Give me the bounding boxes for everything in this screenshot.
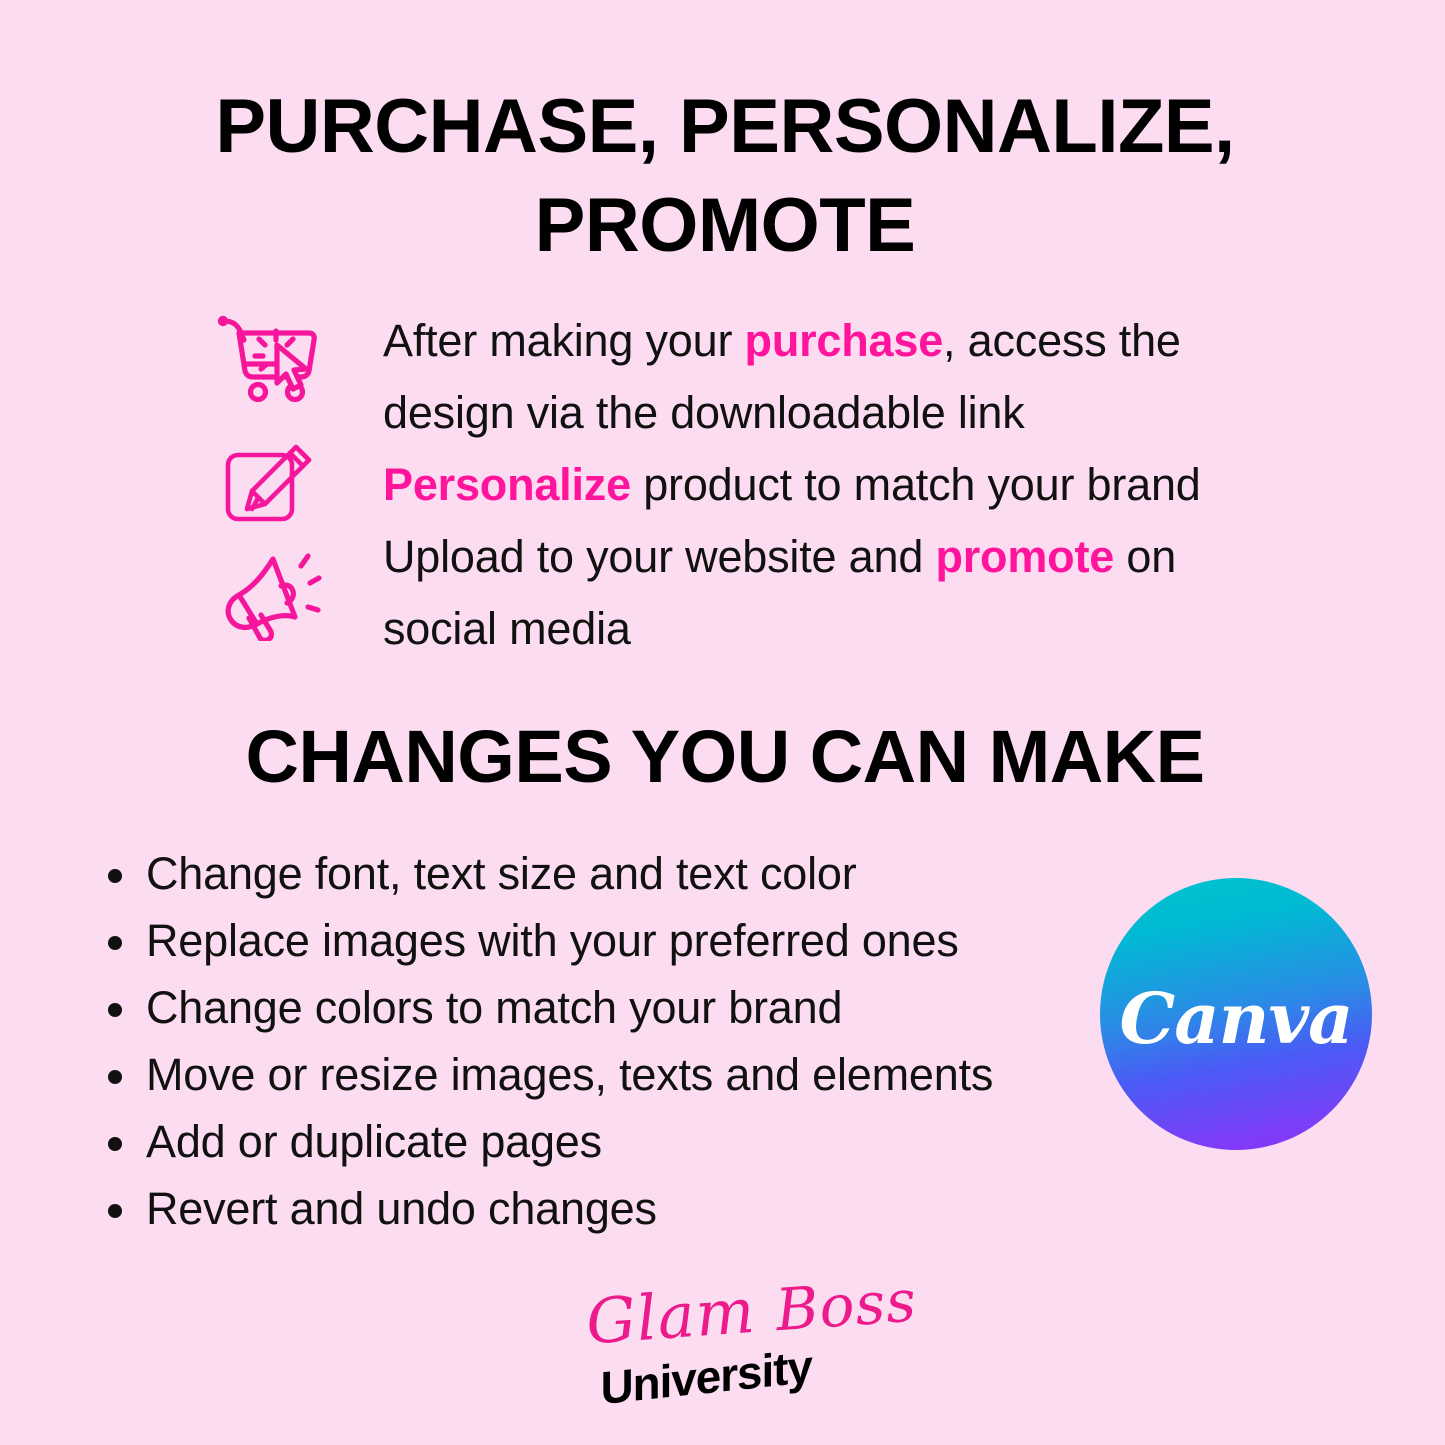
bullet-dot-icon: [108, 1137, 122, 1151]
list-item: Replace images with your preferred ones: [96, 907, 1126, 974]
bullet-dot-icon: [108, 1003, 122, 1017]
poster-canvas: PURCHASE, PERSONALIZE, PROMOTE: [0, 0, 1445, 1445]
list-item-label: Replace images with your preferred ones: [146, 915, 959, 966]
list-item: Change colors to match your brand: [96, 974, 1126, 1041]
step-2-text: Personalize product to match your brand: [383, 459, 1201, 510]
pencil-edit-icon: [219, 439, 317, 531]
step-3-text: Upload to your website and promote on so…: [383, 531, 1176, 654]
highlight-word: Personalize: [383, 459, 631, 510]
canva-wordmark: Canva: [1120, 977, 1353, 1060]
highlight-word: promote: [935, 531, 1114, 582]
bullet-dot-icon: [108, 1070, 122, 1084]
megaphone-icon: [213, 545, 323, 641]
canva-logo-badge: Canva: [1100, 878, 1372, 1150]
step-text-run: product to match your brand: [631, 459, 1201, 510]
list-item: Move or resize images, texts and element…: [96, 1041, 1126, 1108]
steps-paragraph: After making your purchase, access the d…: [383, 305, 1283, 665]
highlight-word: purchase: [745, 315, 943, 366]
step-1-text: After making your purchase, access the d…: [383, 315, 1181, 438]
page-title: PURCHASE, PERSONALIZE, PROMOTE: [170, 78, 1280, 276]
list-item-label: Change colors to match your brand: [146, 982, 842, 1033]
shopping-cart-cursor-icon: [213, 309, 323, 405]
list-item-label: Add or duplicate pages: [146, 1116, 602, 1167]
section-heading: CHANGES YOU CAN MAKE: [120, 714, 1330, 799]
step-text-run: After making your: [383, 315, 745, 366]
list-item-label: Move or resize images, texts and element…: [146, 1049, 993, 1100]
bullet-dot-icon: [108, 1204, 122, 1218]
list-item: Change font, text size and text color: [96, 840, 1126, 907]
list-item-label: Change font, text size and text color: [146, 848, 857, 899]
brand-boss-text: Boss: [774, 1267, 919, 1345]
list-item-label: Revert and undo changes: [146, 1183, 657, 1234]
list-item: Revert and undo changes: [96, 1175, 1126, 1242]
brand-logo: Glam Boss University: [560, 1272, 890, 1422]
bullet-dot-icon: [108, 869, 122, 883]
changes-list: Change font, text size and text colorRep…: [96, 840, 1126, 1242]
bullet-dot-icon: [108, 936, 122, 950]
step-text-run: Upload to your website and: [383, 531, 935, 582]
list-item: Add or duplicate pages: [96, 1108, 1126, 1175]
